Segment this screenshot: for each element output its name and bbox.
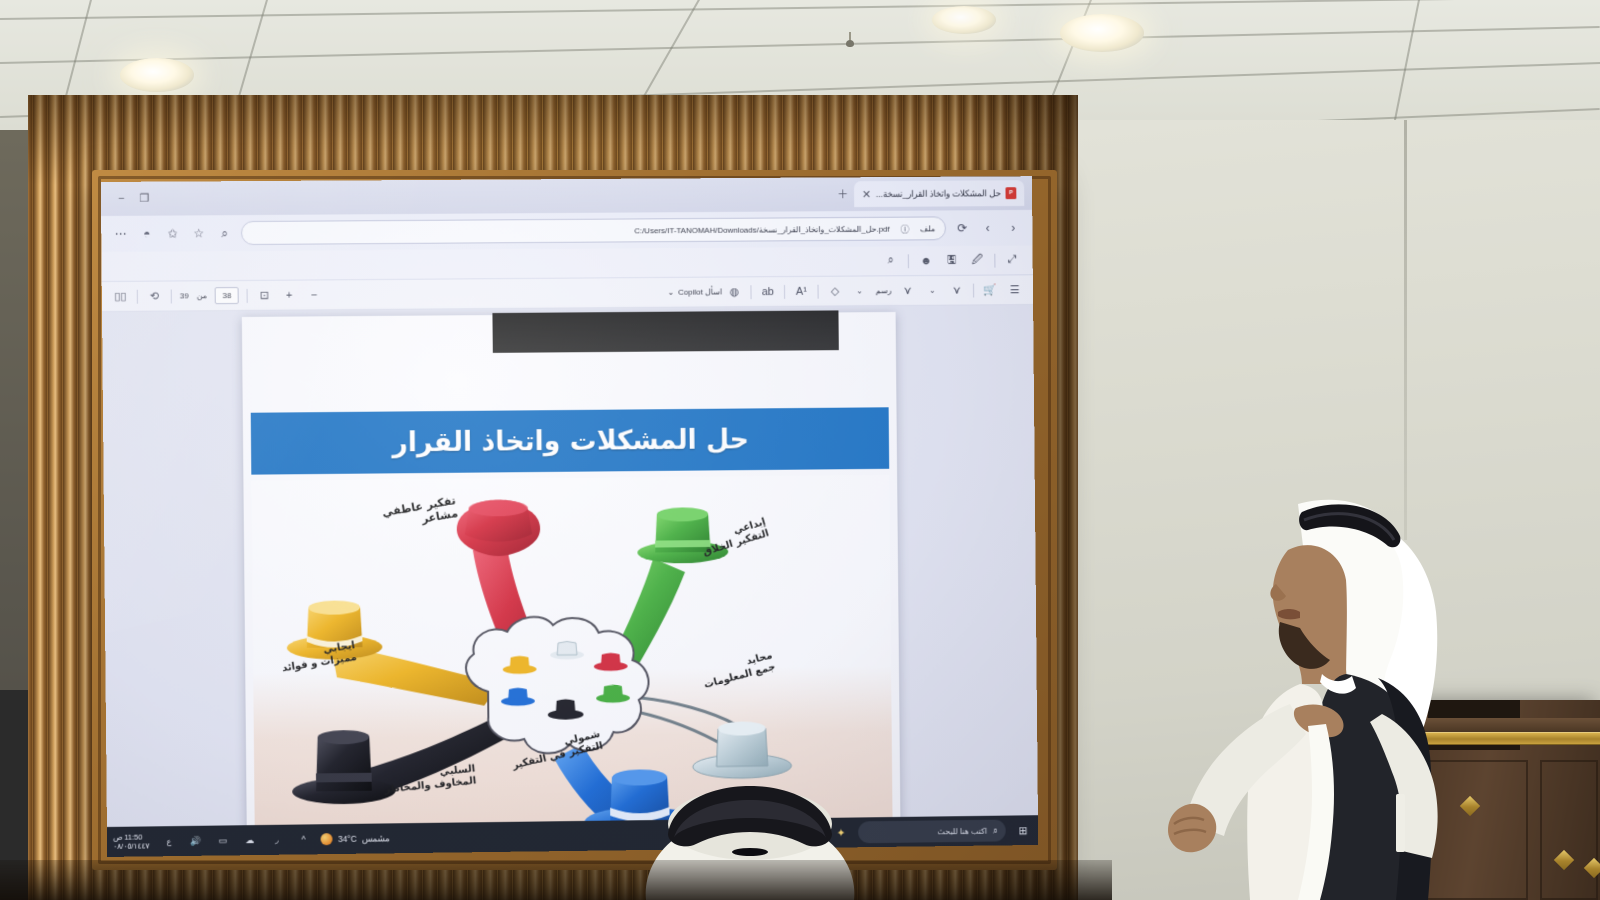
- slide-title-text: حل المشكلات واتخاذ القرار: [392, 424, 749, 458]
- read-aloud-icon[interactable]: ☻: [918, 252, 935, 269]
- slide-title-banner: حل المشكلات واتخاذ القرار: [251, 407, 889, 474]
- browser-tab-title: حل المشكلات واتخاذ القرار_نسخة...: [876, 188, 1001, 200]
- battery-icon[interactable]: ▭: [213, 831, 232, 850]
- conference-room-photo: P حل المشكلات واتخاذ القرار_نسخة... ✕ ＋ …: [0, 0, 1600, 900]
- downlight: [120, 58, 194, 92]
- chevron-down-icon[interactable]: ⌄: [668, 288, 675, 297]
- standing-presenter: [1150, 488, 1490, 900]
- weather-condition: مشمس: [362, 833, 390, 844]
- clock-time: 11:50 ص: [113, 832, 142, 842]
- refresh-icon[interactable]: ⟳: [953, 219, 972, 238]
- text-size-icon[interactable]: A¹: [793, 283, 810, 300]
- taskbar-search-box[interactable]: ⌕ اكتب هنا للبحث: [858, 820, 1006, 844]
- search-icon: ⌕: [993, 821, 998, 840]
- draw-label[interactable]: رسم: [876, 286, 892, 295]
- highlight-icon[interactable]: ab: [759, 283, 776, 300]
- windows-start-icon[interactable]: ⊞: [1013, 821, 1032, 840]
- pen-icon[interactable]: ⋎: [899, 282, 916, 299]
- search-icon[interactable]: ⌕: [215, 224, 234, 243]
- weather-temp: 34°C: [338, 834, 357, 844]
- address-bar[interactable]: ملف ⓘ C:/Users/IT-TANOMAH/Downloads/حل_ا…: [241, 216, 946, 245]
- copilot-icon: ◍: [726, 283, 743, 300]
- file-label: ملف: [920, 224, 935, 233]
- ellipsis-icon[interactable]: ⋯: [111, 224, 130, 243]
- wall-seam: [1404, 120, 1407, 540]
- profile-avatar-icon[interactable]: ◓: [137, 224, 156, 243]
- info-circle-icon[interactable]: ⓘ: [895, 219, 914, 238]
- pdf-page: حل المشكلات واتخاذ القرار: [242, 312, 901, 857]
- wifi-icon[interactable]: ◞: [267, 830, 286, 849]
- page-of-label: من: [197, 291, 207, 300]
- star-icon[interactable]: ☆: [189, 224, 208, 243]
- rotate-icon[interactable]: ⟲: [146, 288, 163, 305]
- taskbar-search-placeholder: اكتب هنا للبحث: [937, 826, 987, 836]
- window-controls: ❐ −: [109, 192, 151, 205]
- draw-note-icon[interactable]: 🖉: [969, 252, 986, 269]
- marker-icon[interactable]: ⋎: [948, 282, 965, 299]
- taskbar-clock[interactable]: 11:50 ص ٠٨/٠٥/١٤٤٧: [113, 832, 150, 851]
- plus-icon[interactable]: ＋: [837, 186, 848, 202]
- language-icon[interactable]: ع: [159, 832, 178, 851]
- sprinkler-head: [846, 32, 854, 48]
- volume-icon[interactable]: 🔊: [186, 831, 205, 850]
- downlight: [1060, 14, 1144, 52]
- two-page-icon[interactable]: ▯▯: [112, 288, 129, 305]
- expand-icon[interactable]: ⤢: [1004, 252, 1021, 269]
- zoom-out-button[interactable]: −: [306, 286, 323, 303]
- foreground-shadow: [0, 860, 1112, 900]
- taskbar-weather[interactable]: مشمس 34°C: [321, 832, 390, 845]
- list-icon[interactable]: ☰: [1006, 281, 1023, 298]
- sun-icon: [321, 833, 333, 845]
- onedrive-icon[interactable]: ☁: [240, 831, 259, 850]
- chevron-up-icon[interactable]: ^: [294, 830, 313, 849]
- total-pages-label: 39: [180, 291, 189, 300]
- close-icon[interactable]: ✕: [862, 188, 871, 201]
- save-icon[interactable]: 🖫: [943, 252, 960, 269]
- cart-icon[interactable]: 🛒: [982, 281, 999, 298]
- chevron-down-icon[interactable]: ⌄: [851, 282, 868, 299]
- pdf-page-stage[interactable]: حل المشكلات واتخاذ القرار: [102, 305, 1038, 857]
- redaction-bar: [492, 310, 838, 352]
- copilot-label: اسأل Copilot: [678, 287, 722, 296]
- clock-date: ٠٨/٠٥/١٤٤٧: [113, 841, 149, 851]
- edge-browser-window: P حل المشكلات واتخاذ القرار_نسخة... ✕ ＋ …: [101, 176, 1038, 857]
- eraser-icon[interactable]: ◇: [826, 283, 843, 300]
- zoom-in-button[interactable]: +: [281, 287, 298, 304]
- chevron-right-icon[interactable]: ›: [978, 219, 997, 238]
- search-icon[interactable]: ⌕: [882, 252, 899, 269]
- chevron-left-icon[interactable]: ‹: [1004, 218, 1023, 237]
- restore-icon[interactable]: ❐: [138, 192, 151, 205]
- collections-icon[interactable]: ✩: [163, 224, 182, 243]
- fit-page-icon[interactable]: ⊡: [256, 287, 273, 304]
- downlight: [932, 6, 996, 34]
- minimize-icon[interactable]: −: [115, 192, 128, 205]
- browser-tab[interactable]: P حل المشكلات واتخاذ القرار_نسخة... ✕: [854, 180, 1024, 207]
- current-page-input[interactable]: 38: [215, 287, 239, 304]
- pdf-favicon-icon: P: [1005, 187, 1016, 199]
- projection-screen: P حل المشكلات واتخاذ القرار_نسخة... ✕ ＋ …: [101, 176, 1038, 857]
- ask-copilot-button[interactable]: ◍ اسأل Copilot ⌄: [668, 283, 743, 300]
- chevron-down-icon[interactable]: ⌄: [924, 282, 941, 299]
- url-text: C:/Users/IT-TANOMAH/Downloads/حل_المشكلا…: [634, 224, 890, 235]
